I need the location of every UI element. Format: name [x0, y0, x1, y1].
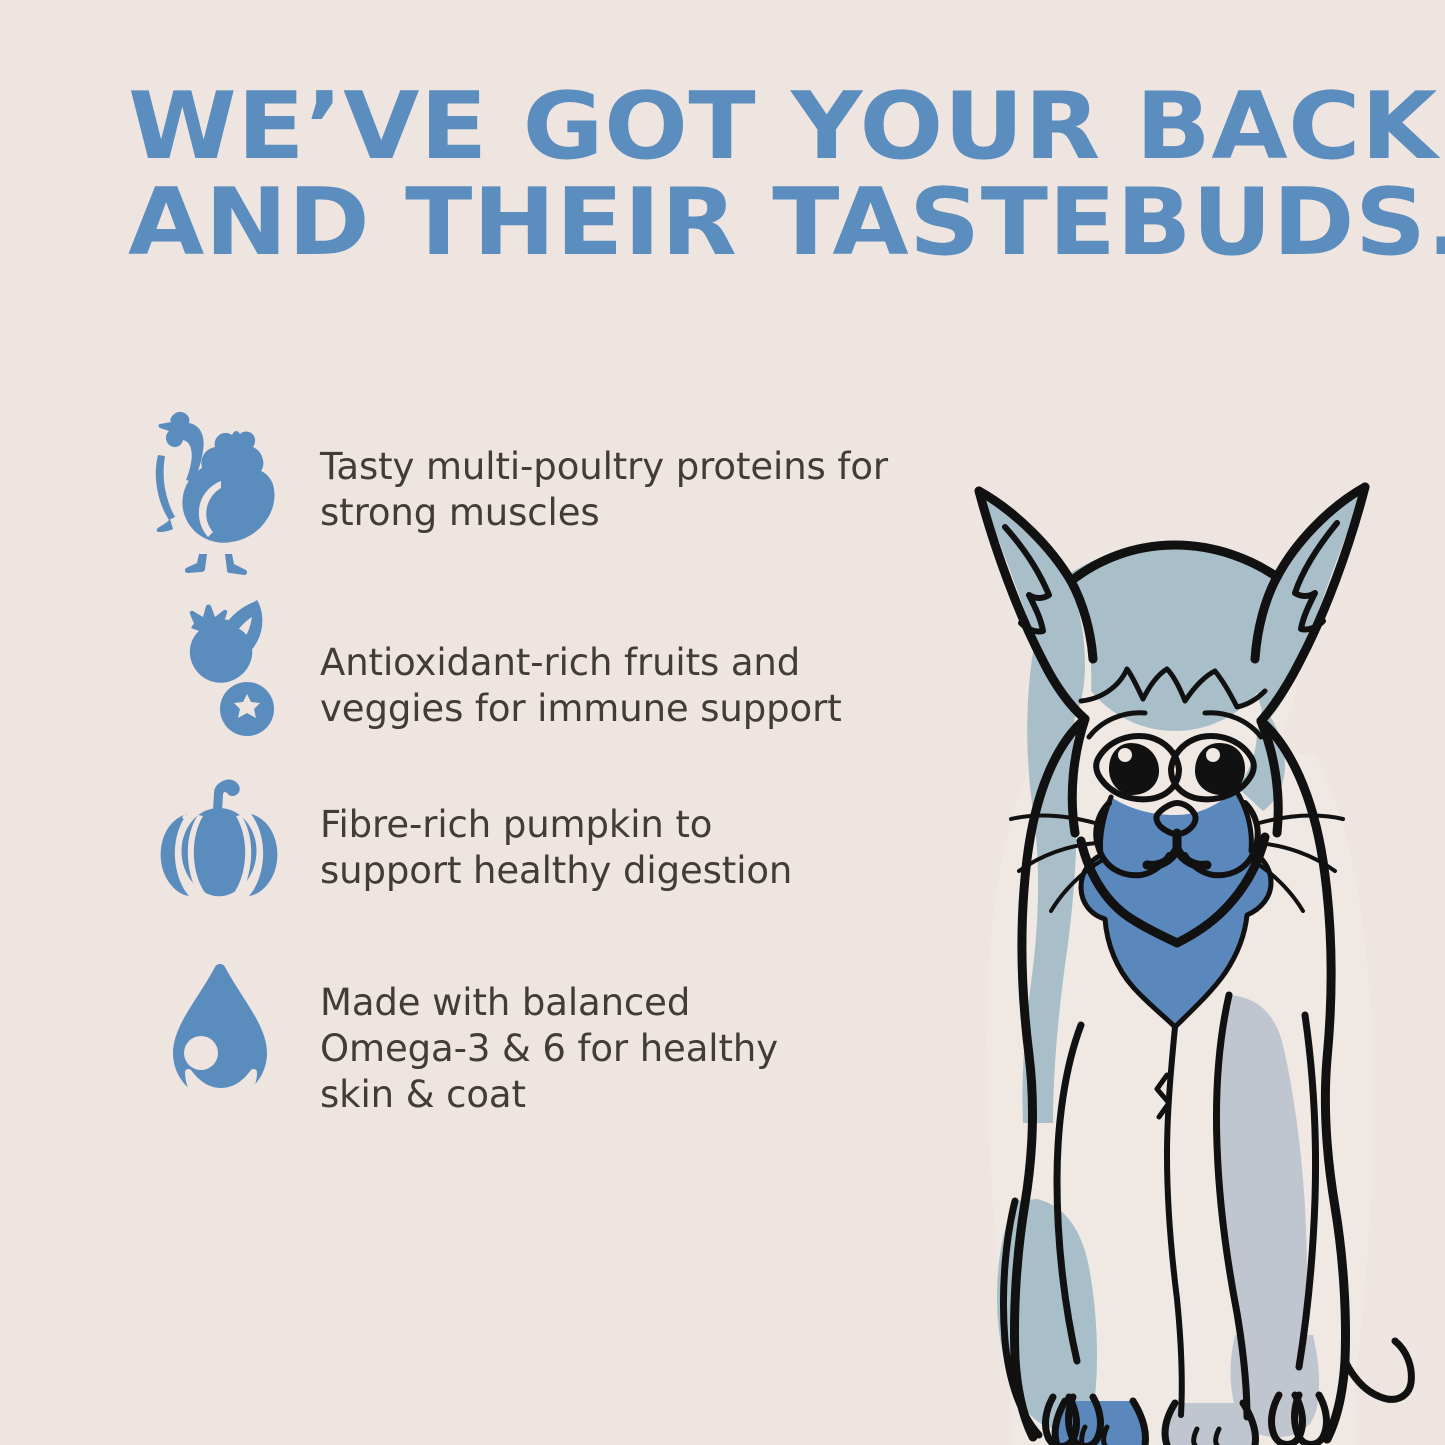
cat-chest-fill [1081, 789, 1271, 1027]
cat-body-fill [987, 755, 1373, 1445]
cat-right-paw-fill [1231, 1335, 1320, 1437]
feature-item-berries: Antioxidant-rich fruits and veggies for … [120, 582, 920, 768]
cat-left-body-wash [1022, 640, 1081, 1123]
headline-line-1: WE’VE GOT YOUR BACK. [128, 78, 1432, 174]
headline-line-2: AND THEIR TASTEBUDS. [128, 174, 1432, 270]
poultry-icon [120, 392, 320, 582]
cat-illustration [885, 455, 1445, 1445]
cat-head-cap-fill [1067, 541, 1283, 731]
cat-head-fill [1051, 605, 1300, 799]
water-drop-icon [120, 954, 320, 1138]
feature-text-berries: Antioxidant-rich fruits and veggies for … [320, 582, 920, 732]
feature-text-pumpkin: Fibre-rich pumpkin to support healthy di… [320, 768, 920, 894]
cat-ear-left-fill [981, 495, 1085, 717]
feature-text-omega: Made with balanced Omega-3 & 6 for healt… [320, 954, 920, 1118]
promo-graphic: WE’VE GOT YOUR BACK. AND THEIR TASTEBUDS… [0, 0, 1445, 1445]
pumpkin-icon [120, 768, 320, 932]
feature-item-omega: Made with balanced Omega-3 & 6 for healt… [120, 954, 920, 1140]
page-title: WE’VE GOT YOUR BACK. AND THEIR TASTEBUDS… [128, 78, 1358, 270]
cat-front-paw-gray-fill [1166, 1403, 1255, 1445]
cat-left-paw-wash [997, 1199, 1097, 1429]
cat-front-paw-blue-fill [1056, 1401, 1145, 1445]
cat-right-leg-fill [1218, 995, 1307, 1395]
cat-right-cheek-wash [1237, 705, 1285, 811]
berries-icon [120, 582, 320, 756]
feature-text-poultry: Tasty multi-poultry proteins for strong … [320, 392, 920, 536]
feature-item-pumpkin: Fibre-rich pumpkin to support healthy di… [120, 768, 920, 954]
feature-item-poultry: Tasty multi-poultry proteins for strong … [120, 392, 920, 582]
feature-list: Tasty multi-poultry proteins for strong … [120, 392, 920, 1140]
cat-ear-right-fill [1255, 491, 1363, 721]
